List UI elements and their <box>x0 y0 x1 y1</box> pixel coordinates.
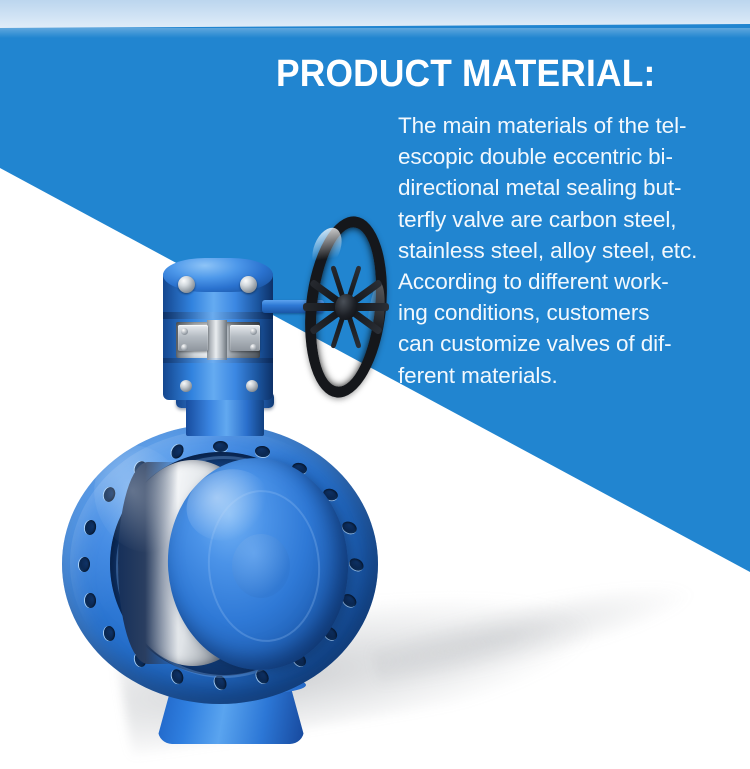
stem-neck <box>186 398 264 436</box>
handwheel <box>297 212 396 401</box>
gearbox-top-bolt <box>240 276 257 293</box>
valve-stem <box>207 320 227 360</box>
gearbox-base-bolt <box>180 380 192 392</box>
gearbox-seam-lower <box>163 358 273 363</box>
product-banner-image: PRODUCT MATERIAL: The main materials of … <box>0 0 750 769</box>
clamp-bolt <box>250 344 257 351</box>
clamp-bolt <box>181 344 188 351</box>
gearbox-seam-upper <box>163 312 273 319</box>
flange-bolt-hole <box>213 441 228 452</box>
clamp-bolt <box>181 328 188 335</box>
gearbox-top-bolt <box>178 276 195 293</box>
gearbox-base-bolt <box>246 380 258 392</box>
clamp-bolt <box>250 328 257 335</box>
flange-bolt-hole <box>78 556 90 572</box>
disc-hub <box>232 534 290 598</box>
butterfly-valve-product-photo <box>0 0 750 769</box>
